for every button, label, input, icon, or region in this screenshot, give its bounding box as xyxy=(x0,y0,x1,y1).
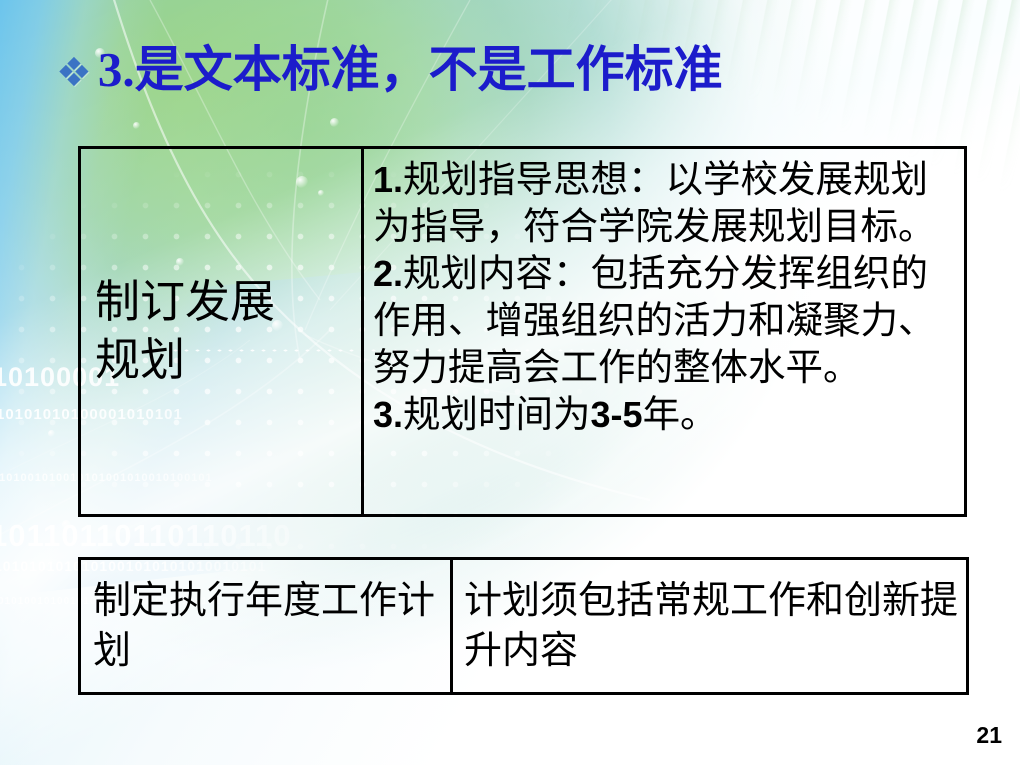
plan-item-3-text-after: 年。 xyxy=(643,395,718,436)
plan-item-3-number: 3. xyxy=(373,394,403,435)
plan-item-2: 2.规划内容：包括充分发挥组织的作用、增强组织的活力和凝聚力、努力提高会工作的整… xyxy=(373,251,960,392)
table-row-label-cell: 制定执行年度工作计划 xyxy=(81,560,453,692)
table-row-content-cell: 计划须包括常规工作和创新提升内容 xyxy=(453,560,966,692)
annual-content: 计划须包括常规工作和创新提升内容 xyxy=(464,576,960,676)
annual-work-plan-table: 制定执行年度工作计划 计划须包括常规工作和创新提升内容 xyxy=(78,557,969,695)
plan-item-2-text: 规划内容：包括充分发挥组织的作用、增强组织的活力和凝聚力、努力提高会工作的整体水… xyxy=(373,254,936,389)
slide-canvas: 10100001 10101010100001010101 0101001010… xyxy=(0,0,1020,765)
slide-title: ❖ 3.是文本标准，不是工作标准 xyxy=(56,44,723,96)
annual-label: 制定执行年度工作计划 xyxy=(93,576,450,676)
plan-item-3-duration: 3-5 xyxy=(591,394,643,435)
plan-item-1: 1.规划指导思想：以学校发展规划为指导，符合学院发展规划目标。 xyxy=(373,157,960,251)
table-row-content-cell: 1.规划指导思想：以学校发展规划为指导，符合学院发展规划目标。 2.规划内容：包… xyxy=(364,149,964,514)
background-bubble xyxy=(133,122,140,129)
background-bubble xyxy=(330,118,339,127)
development-plan-table: 制订发展 规划 1.规划指导思想：以学校发展规划为指导，符合学院发展规划目标。 … xyxy=(78,146,967,517)
plan-item-3: 3.规划时间为3-5年。 xyxy=(373,392,960,439)
plan-label: 制订发展 规划 xyxy=(95,274,361,389)
plan-item-1-text: 规划指导思想：以学校发展规划为指导，符合学院发展规划目标。 xyxy=(373,160,936,248)
plan-item-1-number: 1. xyxy=(373,159,403,200)
plan-item-2-number: 2. xyxy=(373,253,403,294)
binary-row: 10110110110110110 xyxy=(0,518,292,554)
diamond-cluster-icon: ❖ xyxy=(56,53,92,93)
plan-item-3-text-before: 规划时间为 xyxy=(403,395,591,436)
page-number: 21 xyxy=(976,722,1002,749)
slide-title-text: 3.是文本标准，不是工作标准 xyxy=(98,44,723,96)
background-bubble xyxy=(908,118,915,125)
table-row-label-cell: 制订发展 规划 xyxy=(81,149,364,514)
